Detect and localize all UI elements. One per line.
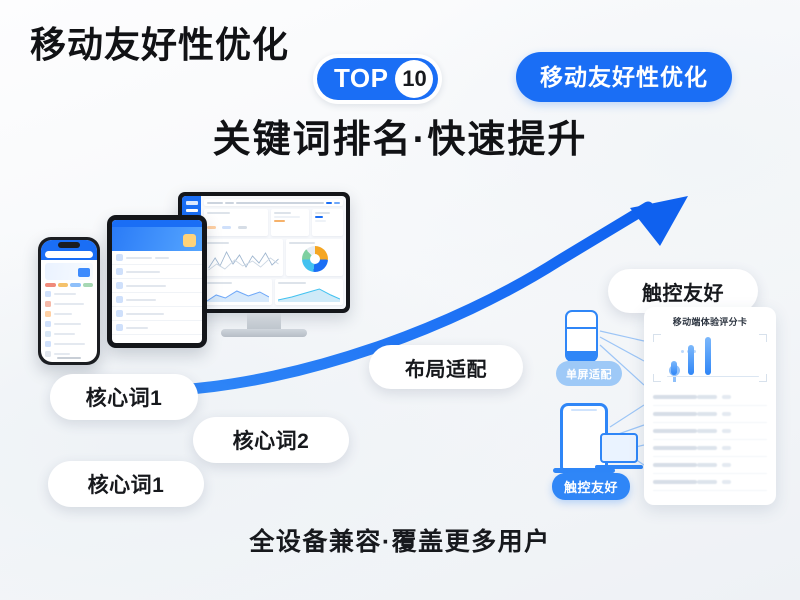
list-item <box>112 279 202 293</box>
table-row <box>653 457 767 474</box>
list-item-icon <box>116 310 123 317</box>
phone-chip-row <box>41 283 97 287</box>
bar-chart-icon <box>671 337 757 375</box>
tablet-banner <box>112 227 202 251</box>
table-row <box>653 406 767 423</box>
dashboard-row <box>204 209 343 236</box>
dashboard-row <box>204 239 343 276</box>
dashboard-logo <box>186 201 198 205</box>
diagram-laptop-icon <box>600 433 642 471</box>
monitor-stand-neck <box>247 313 281 329</box>
keyword-pill-3: 核心词1 <box>48 461 204 507</box>
line-chart-icon <box>207 246 280 272</box>
dashboard-content <box>201 196 346 309</box>
list-item-icon <box>116 254 123 261</box>
dashboard-donut-card <box>286 239 343 276</box>
dashboard-area-card <box>275 279 343 305</box>
list-item-icon <box>116 282 123 289</box>
dashboard-card <box>204 209 268 236</box>
footer-tagline: 全设备兼容·覆盖更多用户 <box>0 522 800 558</box>
diagram-tag-solid: 触控友好 <box>552 473 630 500</box>
dashboard-card <box>271 209 310 236</box>
score-card-title: 移动端体验评分卡 <box>653 315 767 328</box>
list-item-icon <box>116 324 123 331</box>
table-row <box>653 389 767 406</box>
list-item <box>112 321 202 335</box>
dashboard-topbar <box>204 199 343 206</box>
score-card-chart <box>653 334 767 382</box>
diagram-tag-soft: 单屏适配 <box>556 361 622 386</box>
search-bar <box>45 251 93 258</box>
chart-baseline <box>667 376 759 378</box>
list-item <box>112 307 202 321</box>
device-mockup-group <box>25 188 325 388</box>
phone-notch <box>58 242 80 248</box>
phone-mockup <box>38 237 100 365</box>
list-item <box>41 339 97 349</box>
list-item <box>41 289 97 299</box>
area-chart-icon <box>278 286 340 302</box>
stage-label-middle: 布局适配 <box>369 345 523 389</box>
table-row <box>653 423 767 440</box>
score-card-rows <box>653 389 767 491</box>
list-item <box>41 299 97 309</box>
area-chart-icon <box>207 286 269 302</box>
list-item <box>41 309 97 319</box>
list-item <box>112 251 202 265</box>
list-item-icon <box>116 296 123 303</box>
keyword-pill-2: 核心词2 <box>193 417 349 463</box>
phone-screen <box>41 240 97 362</box>
list-item <box>112 293 202 307</box>
dashboard-card <box>312 209 343 236</box>
score-card: 移动端体验评分卡 <box>644 307 776 505</box>
list-item <box>112 265 202 279</box>
list-item-icon <box>116 268 123 275</box>
phone-promo-card <box>45 263 93 280</box>
donut-chart-icon <box>302 246 328 272</box>
keyword-pill-1: 核心词1 <box>50 374 198 420</box>
table-row <box>653 440 767 457</box>
tablet-mockup <box>107 215 207 348</box>
dashboard-area-card <box>204 279 272 305</box>
laptop-screen <box>600 433 638 463</box>
list-item <box>41 319 97 329</box>
table-row <box>653 474 767 491</box>
dashboard-nav-item <box>186 209 198 212</box>
device-diagram: 单屏适配 触控友好 移动端体验评分卡 <box>548 305 778 505</box>
list-item <box>41 329 97 339</box>
poster-canvas: 移动友好性优化 TOP 10 移动友好性优化 关键词排名·快速提升 <box>0 0 800 600</box>
dashboard-chart-card <box>204 239 283 276</box>
tablet-screen <box>112 220 202 343</box>
dashboard-row <box>204 279 343 305</box>
diagram-small-phone-icon <box>565 310 598 362</box>
tablet-app-header <box>112 220 202 227</box>
monitor-stand-base <box>221 329 307 337</box>
phone-home-indicator <box>57 357 81 359</box>
